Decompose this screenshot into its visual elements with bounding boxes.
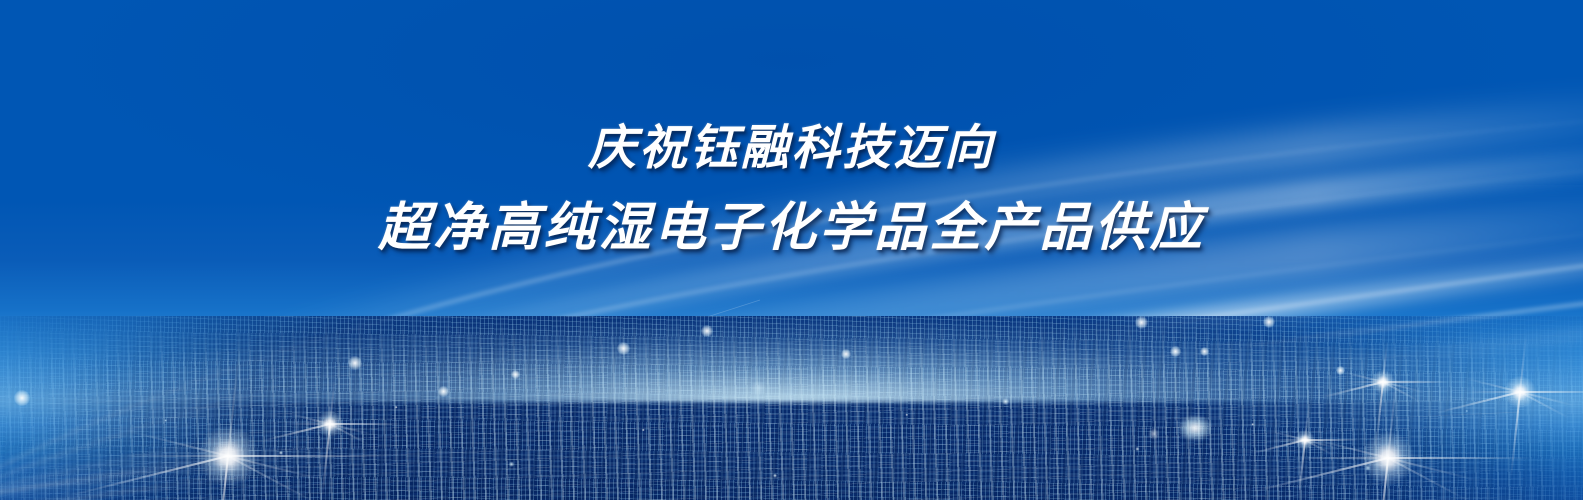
cityscape [0,316,1583,500]
headline-block: 庆祝钰融科技迈向 超净高纯湿电子化学品全产品供应 [0,118,1583,262]
city-horizon-glow [0,316,1583,402]
hero-banner: 庆祝钰融科技迈向 超净高纯湿电子化学品全产品供应 [0,0,1583,500]
headline-line-2: 超净高纯湿电子化学品全产品供应 [0,196,1583,262]
tower-glow [1178,415,1212,441]
headline-line-1: 庆祝钰融科技迈向 [0,118,1583,180]
